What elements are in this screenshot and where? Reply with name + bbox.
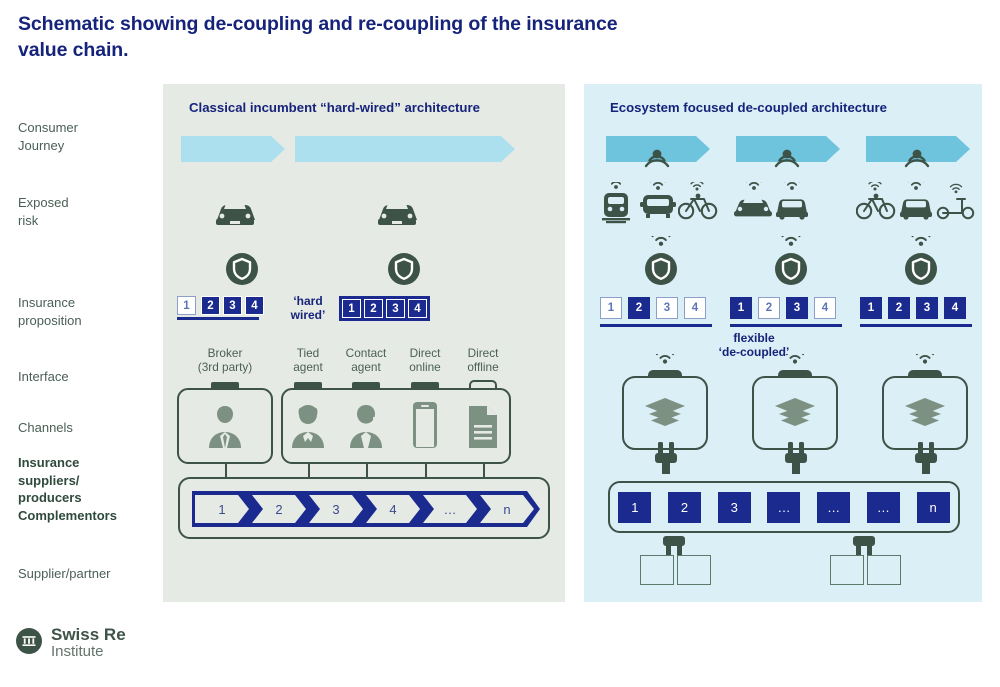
proposition-box-4[interactable]: 4 — [944, 297, 966, 319]
proposition-box-1[interactable]: 1 — [730, 297, 752, 319]
proposition-box-3[interactable]: 3 — [386, 299, 405, 318]
panel-left-title: Classical incumbent “hard-wired” archite… — [189, 100, 480, 115]
proposition-box-4[interactable]: 4 — [814, 297, 836, 319]
smartphone-icon — [411, 400, 439, 450]
document-icon — [467, 400, 499, 450]
proposition-box-4[interactable]: 4 — [684, 297, 706, 319]
van-wifi-icon — [772, 182, 814, 226]
channel-tab-broker — [211, 382, 239, 389]
proposition-group-2: 1234 — [339, 296, 430, 321]
channel-label-direct-online: Direct online — [399, 346, 451, 374]
proposition-bar: 1234 — [860, 297, 972, 319]
bicycle-wifi-icon — [856, 182, 898, 226]
proposition-underline — [860, 324, 972, 327]
logo-subtitle: Institute — [51, 644, 126, 660]
proposition-box-2[interactable]: 2 — [201, 296, 220, 315]
supplier-chevron-bar: 1234…n — [192, 491, 540, 527]
logo-name: Swiss Re — [51, 626, 126, 644]
row-label-consumer-journey: Consumer Journey — [18, 119, 78, 154]
supplier-square-6[interactable]: … — [867, 492, 900, 523]
proposition-underline — [177, 317, 259, 320]
scooter-wifi-icon — [936, 182, 978, 226]
proposition-box-2[interactable]: 2 — [888, 297, 910, 319]
supplier-box-left: 1234…n — [178, 477, 550, 539]
bus-wifi-icon — [638, 182, 680, 226]
supplier-square-4[interactable]: … — [767, 492, 800, 523]
shield-icon — [774, 252, 808, 286]
channel-tab-contact-agent — [352, 382, 380, 389]
proposition-box-4[interactable]: 4 — [408, 299, 427, 318]
proposition-box-2[interactable]: 2 — [364, 299, 383, 318]
plug-icon — [652, 442, 680, 474]
car-icon — [375, 194, 419, 228]
proposition-box-3[interactable]: 3 — [223, 296, 242, 315]
supplier-chevron-4[interactable]: 4 — [366, 495, 420, 523]
person-signal-icon — [774, 146, 800, 170]
supplier-chevron-3[interactable]: 3 — [309, 495, 363, 523]
proposition-group-1: 1234 — [600, 297, 712, 327]
car-wifi-icon — [732, 182, 774, 226]
channel-tab-direct-online — [411, 382, 439, 389]
shield-icon — [644, 252, 678, 286]
swiss-re-building-icon — [16, 628, 42, 654]
proposition-underline — [730, 324, 842, 327]
proposition-box-3[interactable]: 3 — [786, 297, 808, 319]
row-label-supplier-partner: Supplier/partner — [18, 565, 111, 583]
journey-arrow-2 — [295, 136, 515, 162]
person-woman-icon — [288, 400, 328, 452]
journey-arrow-1 — [181, 136, 285, 162]
van-wifi-icon — [896, 182, 938, 226]
proposition-box-3[interactable]: 3 — [656, 297, 678, 319]
row-label-interface: Interface — [18, 368, 69, 386]
swiss-re-logo: Swiss Re Institute — [16, 626, 126, 661]
shield-icon — [225, 252, 259, 286]
partner-square — [867, 555, 901, 585]
supplier-chevron-5[interactable]: … — [423, 495, 477, 523]
supplier-square-1[interactable]: 1 — [618, 492, 651, 523]
person-suit-icon — [205, 400, 245, 452]
proposition-bar: 1234 — [730, 297, 842, 319]
layers-icon — [773, 394, 817, 430]
layers-icon — [643, 394, 687, 430]
row-label-insurance-proposition: Insurance proposition — [18, 294, 82, 329]
row-label-insurance-suppliers: Insurance suppliers/ producers Complemen… — [18, 454, 117, 524]
shield-icon — [387, 252, 421, 286]
plug-icon — [782, 442, 810, 474]
channel-label-broker: Broker (3rd party) — [177, 346, 273, 374]
supplier-chevron-6[interactable]: n — [480, 495, 534, 523]
proposition-box-1[interactable]: 1 — [860, 297, 882, 319]
plug-icon — [912, 442, 940, 474]
proposition-group-3: 1234 — [860, 297, 972, 327]
proposition-box-1[interactable]: 1 — [600, 297, 622, 319]
proposition-box-1[interactable]: 1 — [342, 299, 361, 318]
proposition-bar: 1234 — [600, 297, 712, 319]
proposition-bar: 1234 — [177, 296, 267, 315]
person-headset-icon — [346, 400, 386, 452]
supplier-square-3[interactable]: 3 — [718, 492, 751, 523]
train-wifi-icon — [598, 182, 640, 226]
proposition-underline — [600, 324, 712, 327]
channel-label-contact-agent: Contact agent — [339, 346, 393, 374]
page-title: Schematic showing de-coupling and re-cou… — [18, 12, 618, 63]
channel-label-direct-offline: Direct offline — [455, 346, 511, 374]
person-signal-icon — [644, 146, 670, 170]
person-signal-icon — [904, 146, 930, 170]
row-label-channels: Channels — [18, 419, 73, 437]
proposition-box-4[interactable]: 4 — [245, 296, 264, 315]
proposition-box-2[interactable]: 2 — [628, 297, 650, 319]
supplier-box-right: 123………n — [608, 481, 960, 533]
proposition-box-1[interactable]: 1 — [177, 296, 196, 315]
partner-square — [677, 555, 711, 585]
channel-tab-tied-agent — [294, 382, 322, 389]
proposition-group-2: 1234 — [730, 297, 842, 327]
layers-icon — [903, 394, 947, 430]
proposition-box-2[interactable]: 2 — [758, 297, 780, 319]
supplier-square-7[interactable]: n — [917, 492, 950, 523]
panel-right-title: Ecosystem focused de-coupled architectur… — [610, 100, 887, 115]
supplier-square-5[interactable]: … — [817, 492, 850, 523]
supplier-chevron-1[interactable]: 1 — [195, 495, 249, 523]
supplier-square-2[interactable]: 2 — [668, 492, 701, 523]
proposition-group-1: 1234 — [177, 296, 267, 320]
hard-wired-label: ‘hard wired’ — [281, 295, 335, 323]
car-icon — [213, 194, 257, 228]
row-label-exposed-risk: Exposed risk — [18, 194, 69, 229]
channel-label-tied-agent: Tied agent — [281, 346, 335, 374]
proposition-bar: 1234 — [339, 296, 430, 321]
bicycle-wifi-icon — [678, 182, 720, 226]
proposition-box-3[interactable]: 3 — [916, 297, 938, 319]
supplier-chevron-2[interactable]: 2 — [252, 495, 306, 523]
partner-square — [640, 555, 674, 585]
shield-icon — [904, 252, 938, 286]
channel-tab-direct-offline — [469, 380, 497, 389]
partner-square — [830, 555, 864, 585]
